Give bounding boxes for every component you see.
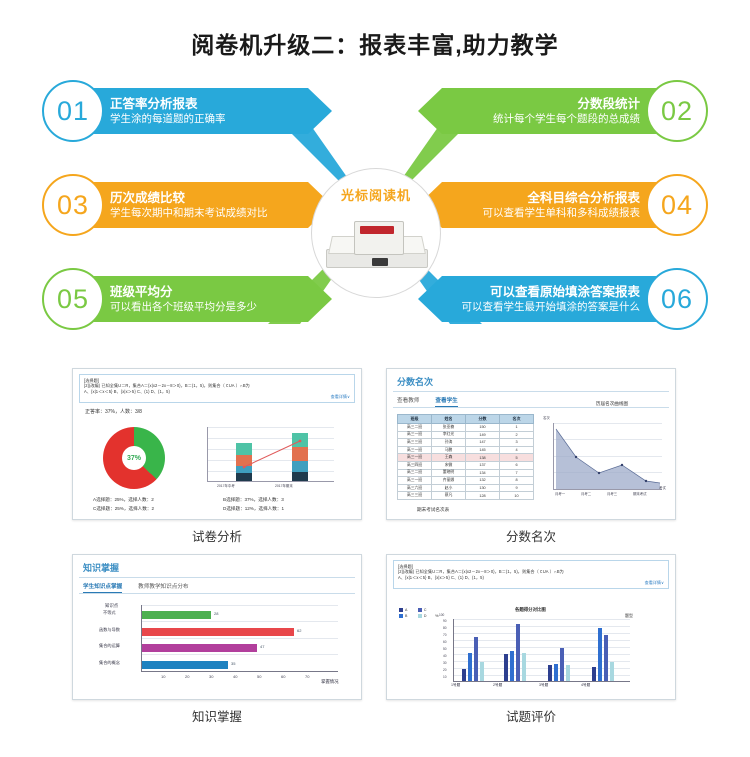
feature-05-title: 班级平均分 (110, 285, 302, 300)
score-rank-heading: 分数名次 (397, 375, 675, 388)
table-row: 高三一班李红光1492 (398, 431, 534, 439)
bar-x-label-2: 2017年期末 (275, 483, 293, 488)
table-row: 高三三班孙涛1473 (398, 439, 534, 447)
correct-rate-text: 正答率：37%，人数：3/8 (85, 408, 361, 415)
feature-03-title: 历次成绩比较 (110, 191, 302, 206)
knowledge-cat-4: 集合的概念 (99, 660, 120, 666)
ytick-30: 30 (443, 661, 447, 665)
rank-area-chart: 历届名次曲线图 名次 月考一 月考二 月考三 期末考试 考试 (539, 401, 669, 511)
legend-swatch-c (418, 608, 422, 612)
area-x-label-1: 月考一 (555, 491, 565, 496)
feature-06-number: 06 (646, 268, 708, 330)
tab-view-teacher[interactable]: 查看教师 (397, 396, 419, 407)
knowledge-bar-chart: 知识点 28 62 47 35 不等式 函数与导数 集合的运算 集合的概念 10… (73, 601, 362, 697)
legend-label-d: D (424, 614, 427, 618)
caption-exam-analysis: 试卷分析 (117, 526, 317, 545)
knowledge-cat-2: 函数与导数 (99, 627, 120, 633)
ytick-90: 90 (443, 619, 447, 623)
tab-teacher-knowledge[interactable]: 教师教学知识点分布 (138, 582, 188, 593)
ytick-100: 100 (439, 613, 444, 617)
feature-06[interactable]: 可以查看原始填涂答案报表 可以查看学生最开始填涂的答案是什么 06 (418, 268, 708, 330)
area-y-label: 名次 (543, 415, 550, 420)
legend-a: A选择题：25%，选择人数：2 (93, 495, 223, 504)
feature-05-subtitle: 可以看出各个班级平均分是多少 (110, 300, 302, 314)
view-detail-link-2[interactable]: 查看详情∨ (398, 580, 664, 586)
knowledge-heading: 知识掌握 (83, 561, 361, 574)
knowledge-xtick-5: 50 (257, 674, 261, 679)
feature-01-number: 01 (42, 80, 104, 142)
col-class: 班级 (398, 415, 432, 424)
table-row: 高三六班赵小1309 (398, 484, 534, 492)
knowledge-cat-1: 不等式 (103, 610, 116, 616)
table-row: 高三一班王森1385 (398, 454, 534, 462)
feature-02-number: 02 (646, 80, 708, 142)
feature-01-title: 正答率分析报表 (110, 97, 302, 112)
caption-item-eval: 试题评价 (431, 706, 631, 725)
legend-swatch-b (399, 614, 403, 618)
item-eval-cat-2: 2号题 (493, 683, 502, 688)
feature-05[interactable]: 班级平均分 可以看出各个班级平均分是多少 05 (42, 268, 332, 330)
legend-label-a: A (405, 608, 407, 612)
area-chart-title: 历届名次曲线图 (555, 401, 669, 407)
ytick-10: 10 (443, 675, 447, 679)
knowledge-xtick-3: 30 (209, 674, 213, 679)
panel-knowledge[interactable]: 知识掌握 学生知识点掌握 教师教学知识点分布 知识点 28 62 47 35 (72, 554, 362, 700)
area-x-label-3: 月考三 (607, 491, 617, 496)
legend-label-b: B (405, 614, 407, 618)
feature-infographic: 正答率分析报表 学生涂的每道题的正确率 01 分数段统计 统计每个学生每个题段的… (0, 76, 750, 358)
tab-student-knowledge[interactable]: 学生知识点掌握 (83, 582, 122, 593)
feature-06-title: 可以查看原始填涂答案报表 (490, 285, 640, 300)
knowledge-xtick-7: 70 (305, 674, 309, 679)
feature-06-subtitle: 可以查看学生最开始填涂的答案是什么 (462, 300, 641, 314)
col-score: 分数 (466, 415, 500, 424)
knowledge-xtick-6: 60 (281, 674, 285, 679)
caption-knowledge: 知识掌握 (117, 706, 317, 725)
bar-x-label-1: 2017年中考 (217, 483, 235, 488)
feature-01[interactable]: 正答率分析报表 学生涂的每道题的正确率 01 (42, 80, 332, 142)
table-row: 高三二班张亚楠1501 (398, 424, 534, 432)
hub-label: 光标阅读机 (341, 185, 411, 204)
knowledge-value-1: 28 (214, 611, 218, 616)
view-detail-link[interactable]: 查看详情∨ (84, 394, 350, 400)
question-box: [选择题] [2](改编) 已知全集U＝R，集合A＝{x|x2－2x－8＞0}，… (79, 374, 355, 403)
feature-01-subtitle: 学生涂的每道题的正确率 (110, 112, 302, 126)
feature-05-banner: 班级平均分 可以看出各个班级平均分是多少 (88, 276, 332, 322)
feature-01-banner: 正答率分析报表 学生涂的每道题的正确率 (88, 88, 332, 134)
feature-02-banner: 分数段统计 统计每个学生每个题段的总成绩 (418, 88, 662, 134)
caption-score-rank: 分数名次 (431, 526, 631, 545)
item-eval-chart-title: 各题得分对比图 (515, 607, 546, 613)
ytick-80: 80 (443, 626, 447, 630)
screenshot-gallery: [选择题] [2](改编) 已知全集U＝R，集合A＝{x|x2－2x－8＞0}，… (0, 362, 750, 742)
feature-06-banner: 可以查看原始填涂答案报表 可以查看学生最开始填涂的答案是什么 (418, 276, 662, 322)
item-eval-cat-3: 3号题 (539, 683, 548, 688)
area-x-label-4: 期末考试 (633, 491, 647, 496)
feature-05-number: 05 (42, 268, 104, 330)
legend-swatch-a (399, 608, 403, 612)
feature-04-number: 04 (646, 174, 708, 236)
legend-b: B选择题：37%，选择人数：3 (223, 495, 353, 504)
knowledge-x-label: 掌握情况 (321, 679, 339, 685)
feature-02-title: 分数段统计 (577, 97, 640, 112)
item-eval-legend: A C B D (399, 607, 459, 619)
table-row: 高三一班马鹏1454 (398, 446, 534, 454)
table-row: 高三三班蔡凡12810 (398, 492, 534, 500)
legend-c: C选择题：25%，选择人数：2 (93, 504, 223, 513)
knowledge-tabs: 学生知识点掌握 教师教学知识点分布 (83, 582, 361, 593)
ytick-70: 70 (443, 633, 447, 637)
feature-04[interactable]: 全科目综合分析报表 可以查看学生单科和多科成绩报表 04 (418, 174, 708, 236)
feature-03-banner: 历次成绩比较 学生每次期中和期末考试成绩对比 (88, 182, 332, 228)
tab-view-student[interactable]: 查看学生 (435, 396, 457, 407)
legend-swatch-d (418, 614, 422, 618)
area-axis-x-title: 考试 (659, 485, 666, 490)
hub-circle: 光标阅读机 (311, 168, 441, 298)
feature-02-subtitle: 统计每个学生每个题段的总成绩 (493, 112, 640, 126)
knowledge-value-2: 62 (297, 628, 301, 633)
col-rank: 名次 (500, 415, 534, 424)
table-row: 高三二班董晓明1347 (398, 469, 534, 477)
feature-03-subtitle: 学生每次期中和期末考试成绩对比 (110, 206, 302, 220)
legend-label-c: C (424, 608, 427, 612)
col-name: 姓名 (432, 415, 466, 424)
table-header-row: 班级 姓名 分数 名次 (398, 415, 534, 424)
panel-item-eval[interactable]: [选择题] [2](改编) 已知全集U＝R，集合A＝{x|x2－2x－8＞0}，… (386, 554, 676, 700)
table-row: 高三一班齐丽娜1328 (398, 477, 534, 485)
knowledge-xtick-1: 10 (161, 674, 165, 679)
feature-04-subtitle: 可以查看学生单科和多科成绩报表 (483, 206, 641, 220)
ytick-50: 50 (443, 647, 447, 651)
feature-04-banner: 全科目综合分析报表 可以查看学生单科和多科成绩报表 (418, 182, 662, 228)
panel-score-rank[interactable]: 分数名次 查看教师 查看学生 班级 姓名 分数 名次 高三二班张亚楠1501 高… (386, 368, 676, 520)
knowledge-y-label: 知识点 (105, 603, 118, 609)
rank-table: 班级 姓名 分数 名次 高三二班张亚楠1501 高三一班李红光1492 高三三班… (397, 414, 534, 500)
item-eval-cat-4: 4号题 (581, 683, 590, 688)
donut-center-label: 37% (122, 446, 146, 470)
panel-exam-analysis[interactable]: [选择题] [2](改编) 已知全集U＝R，集合A＝{x|x2－2x－8＞0}，… (72, 368, 362, 520)
ytick-40: 40 (443, 654, 447, 658)
knowledge-xtick-4: 40 (233, 674, 237, 679)
knowledge-value-4: 35 (231, 661, 235, 666)
legend-d: D选择题：12%，选择人数：1 (223, 504, 353, 513)
option-legend: A选择题：25%，选择人数：2 B选择题：37%，选择人数：3 C选择题：25%… (93, 495, 353, 513)
item-eval-cat-1: 1号题 (451, 683, 460, 688)
scanner-machine-icon (324, 214, 428, 268)
question-box-2: [选择题] [2](改编) 已知全集U＝R，集合A＝{x|x2－2x－8＞0}，… (393, 560, 669, 589)
feature-03[interactable]: 历次成绩比较 学生每次期中和期末考试成绩对比 03 (42, 174, 332, 236)
item-eval-bar-chart: 10 20 30 40 50 60 70 80 90 100 1号题 2号题 3… (443, 619, 633, 691)
stacked-bar-chart: 2017年中考 2017年期末 (195, 425, 335, 489)
knowledge-xtick-2: 20 (185, 674, 189, 679)
feature-04-title: 全科目综合分析报表 (527, 191, 640, 206)
ytick-60: 60 (443, 640, 447, 644)
table-caption: 期末考试名次表 (417, 507, 449, 513)
ytick-20: 20 (443, 668, 447, 672)
table-row: 高三四班宋微1376 (398, 461, 534, 469)
knowledge-value-3: 47 (260, 644, 264, 649)
feature-03-number: 03 (42, 174, 104, 236)
knowledge-cat-3: 集合的运算 (99, 643, 120, 649)
page-title: 阅卷机升级二：报表丰富,助力教学 (0, 26, 750, 60)
feature-02[interactable]: 分数段统计 统计每个学生每个题段的总成绩 02 (418, 80, 708, 142)
area-x-label-2: 月考二 (581, 491, 591, 496)
